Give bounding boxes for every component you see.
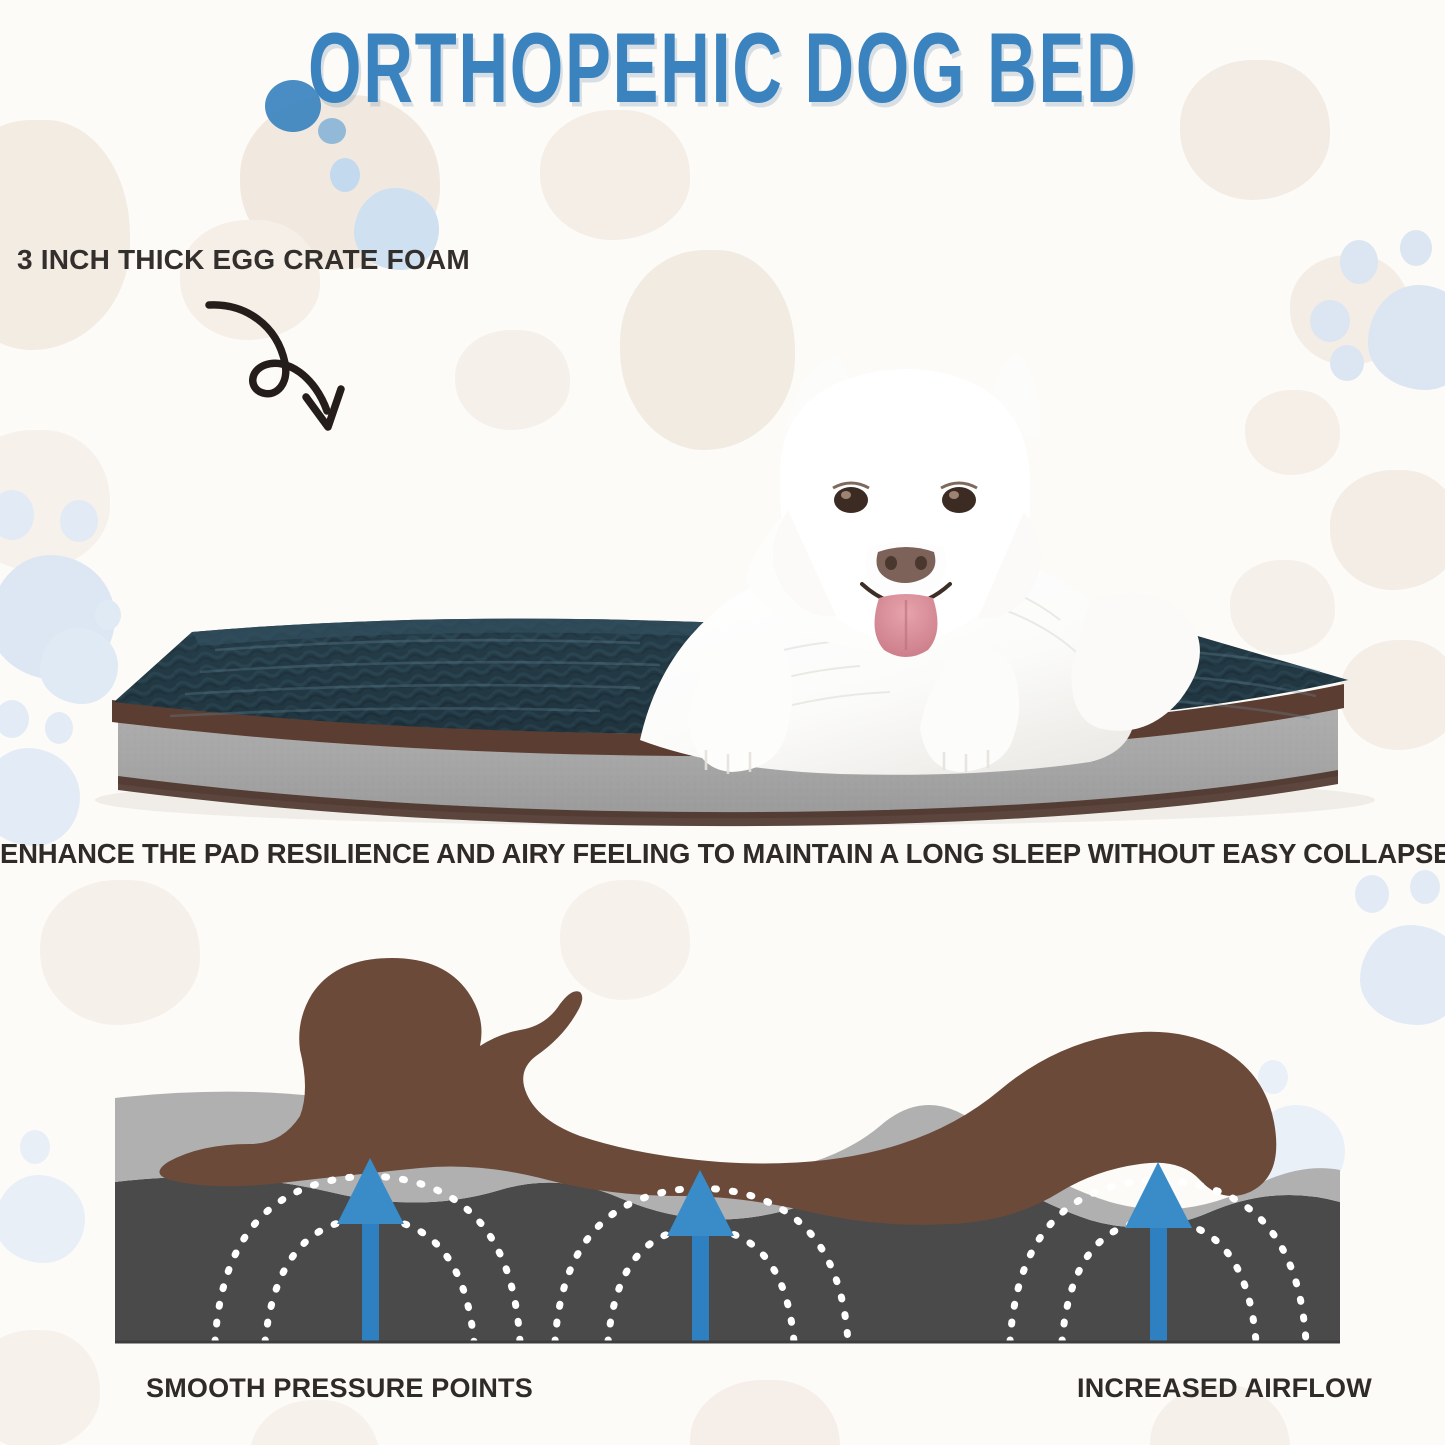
dog-photo <box>640 352 1200 775</box>
product-photo-scene <box>0 180 1445 830</box>
page-title: ORTHOPEHIC DOG BED <box>308 18 1137 117</box>
title-container: ORTHOPEHIC DOG BED <box>0 18 1445 102</box>
label-increased-airflow: INCREASED AIRFLOW <box>1077 1373 1372 1404</box>
cross-section-diagram <box>0 930 1445 1350</box>
main-caption: ENHANCE THE PAD RESILIENCE AND AIRY FEEL… <box>0 838 1445 870</box>
bg-blob <box>250 1400 380 1445</box>
product-infographic: ORTHOPEHIC DOG BED 3 INCH THICK EGG CRAT… <box>0 0 1445 1445</box>
label-smooth-pressure-points: SMOOTH PRESSURE POINTS <box>146 1373 533 1404</box>
bg-blob <box>690 1380 840 1445</box>
foam-callout-label: 3 INCH THICK EGG CRATE FOAM <box>17 244 470 276</box>
curved-arrow-icon <box>205 285 385 440</box>
dog-head <box>773 352 1041 657</box>
